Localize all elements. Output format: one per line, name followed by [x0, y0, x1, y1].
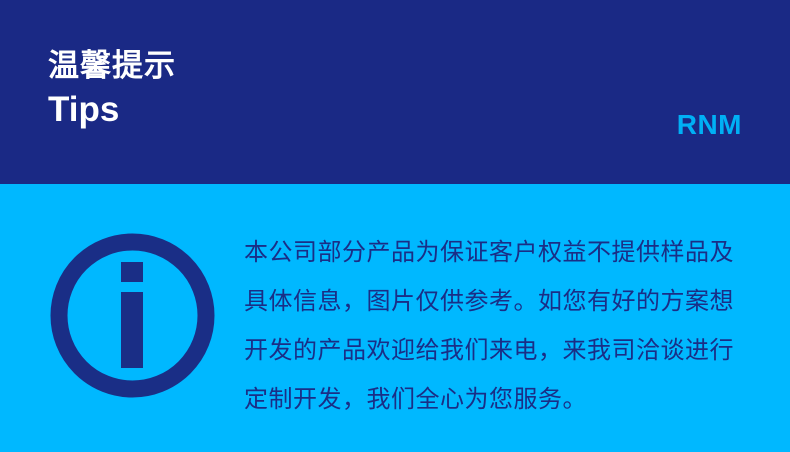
brand-logo-text: RNM [677, 108, 742, 142]
message-line: 定制开发，我们全心为您服务。 [244, 375, 736, 424]
tips-banner: 温馨提示 Tips RNM 本公司部分产品为保证客户权益不提供样品及 具体信息，… [0, 0, 790, 452]
page-title-en: Tips [48, 87, 176, 133]
message-paragraph: 本公司部分产品为保证客户权益不提供样品及 具体信息，图片仅供参考。如您有好的方案… [244, 228, 736, 424]
message-line: 本公司部分产品为保证客户权益不提供样品及 [244, 228, 736, 277]
banner-body: 本公司部分产品为保证客户权益不提供样品及 具体信息，图片仅供参考。如您有好的方案… [0, 184, 790, 452]
info-circle-icon [50, 233, 215, 398]
message-line: 具体信息，图片仅供参考。如您有好的方案想 [244, 277, 736, 326]
message-line: 开发的产品欢迎给我们来电，来我司洽谈进行 [244, 326, 736, 375]
banner-header: 温馨提示 Tips RNM [0, 0, 790, 184]
header-title-block: 温馨提示 Tips [48, 45, 176, 133]
page-title-cn: 温馨提示 [48, 45, 176, 87]
